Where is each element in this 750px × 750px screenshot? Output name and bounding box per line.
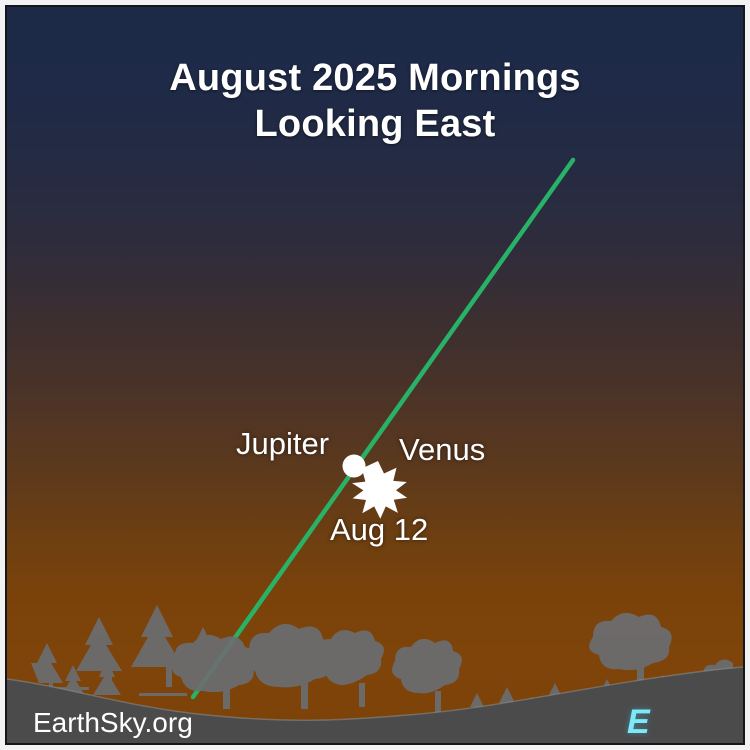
jupiter-label: Jupiter bbox=[236, 426, 329, 462]
sky-chart-frame: August 2025 Mornings Looking East Jupite… bbox=[0, 0, 750, 750]
jupiter-planet-marker bbox=[343, 455, 366, 478]
date-label: Aug 12 bbox=[330, 512, 428, 548]
earthsky-watermark: EarthSky.org bbox=[33, 707, 193, 739]
chart-title-line-2: Looking East bbox=[7, 103, 743, 146]
chart-title-line-1: August 2025 Mornings bbox=[7, 57, 743, 100]
venus-label: Venus bbox=[399, 432, 485, 468]
compass-direction-east: E bbox=[627, 703, 650, 742]
sky-chart-canvas: August 2025 Mornings Looking East Jupite… bbox=[5, 5, 745, 745]
